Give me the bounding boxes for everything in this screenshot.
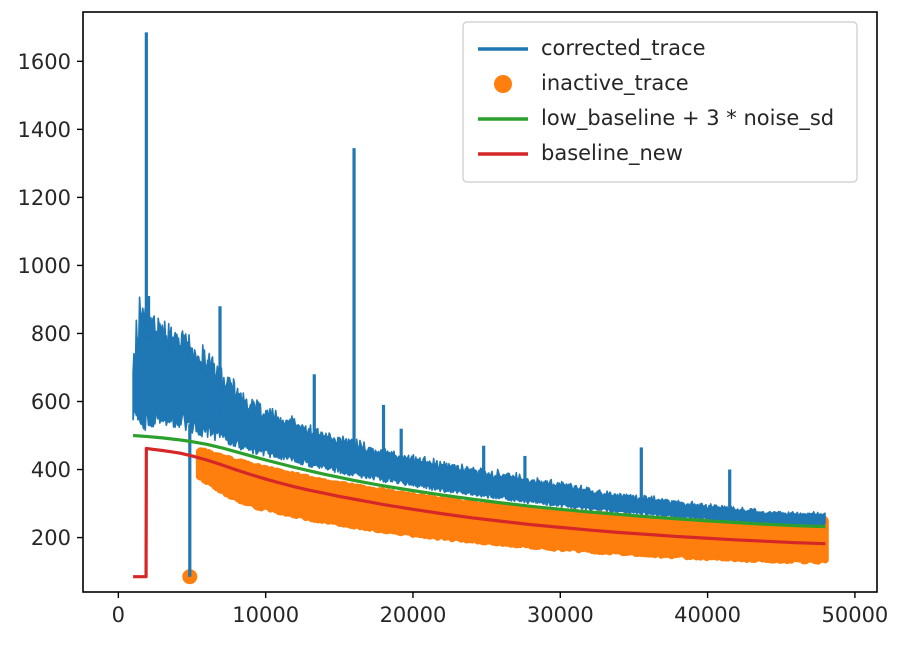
y-tick-label: 1400 [18,118,71,142]
x-tick-label: 10000 [232,603,299,627]
x-tick-label: 20000 [380,603,447,627]
y-tick-label: 400 [31,458,71,482]
legend-item-label: baseline_new [541,141,683,166]
y-tick-label: 800 [31,322,71,346]
y-tick-label: 1200 [18,186,71,210]
x-tick-label: 50000 [821,603,888,627]
legend-item-label: corrected_trace [541,36,705,61]
y-tick-label: 1600 [18,50,71,74]
legend-item-label: inactive_trace [541,71,689,96]
chart-plot: 2004006008001000120014001600010000200003… [0,0,902,645]
x-tick-label: 40000 [674,603,741,627]
y-tick-label: 600 [31,390,71,414]
x-tick-label: 0 [112,603,125,627]
y-tick-label: 200 [31,526,71,550]
figure-canvas: 2004006008001000120014001600010000200003… [0,0,902,645]
y-tick-label: 1000 [18,254,71,278]
legend-marker-dot-icon [494,75,512,93]
chart-legend[interactable]: corrected_traceinactive_tracelow_baselin… [463,22,857,182]
x-tick-label: 30000 [527,603,594,627]
legend-item-label: low_baseline + 3 * noise_sd [541,106,834,131]
